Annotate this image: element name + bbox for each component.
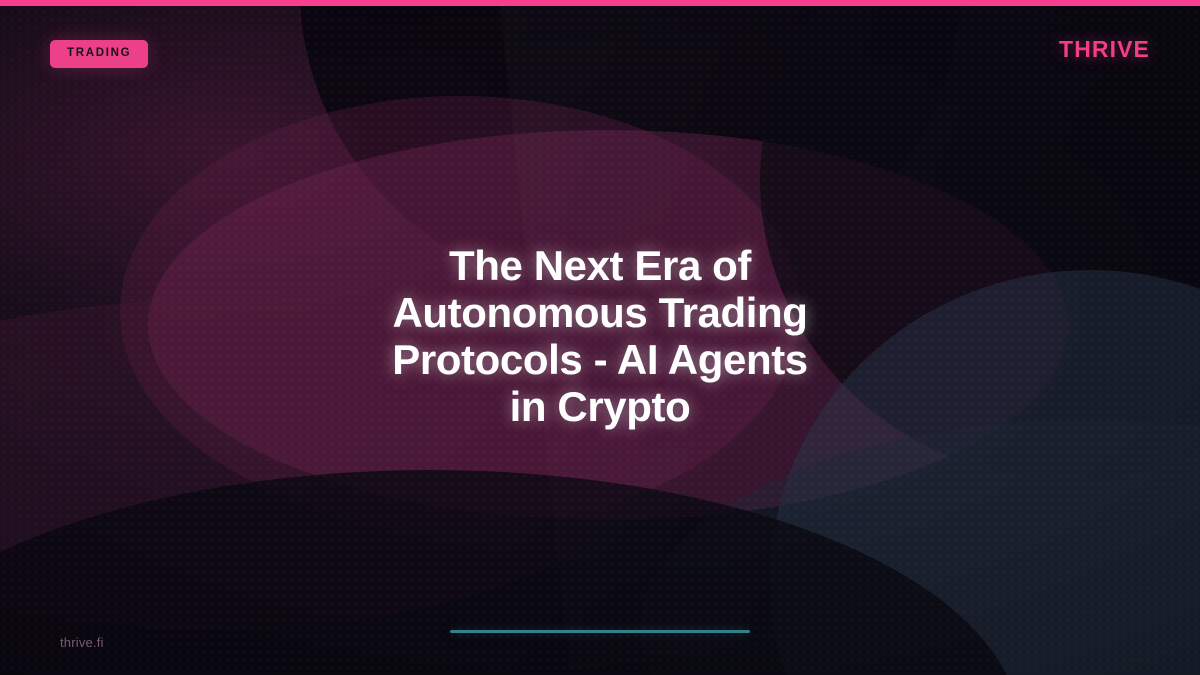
footer-site-url: thrive.fi [60,636,104,649]
footer-accent-rule [450,630,750,633]
slide-title-line: The Next Era of [449,242,751,289]
slide-title-line: Protocols - AI Agents [392,336,808,383]
top-accent-bar [0,0,1200,6]
brand-logo: THRIVE [1059,38,1150,61]
background-ellipse-slate-lower [640,420,1200,675]
slide-title-line: in Crypto [510,383,691,430]
category-badge: TRADING [50,40,148,68]
category-badge-label: TRADING [67,48,131,60]
title-block: The Next Era ofAutonomous TradingProtoco… [0,214,1200,458]
slide-title-line: Autonomous Trading [392,289,807,336]
slide-title: The Next Era ofAutonomous TradingProtoco… [390,242,810,430]
presentation-slide: TRADING THRIVE The Next Era ofAutonomous… [0,0,1200,675]
background-ellipse-deep-bottom [0,470,1020,675]
